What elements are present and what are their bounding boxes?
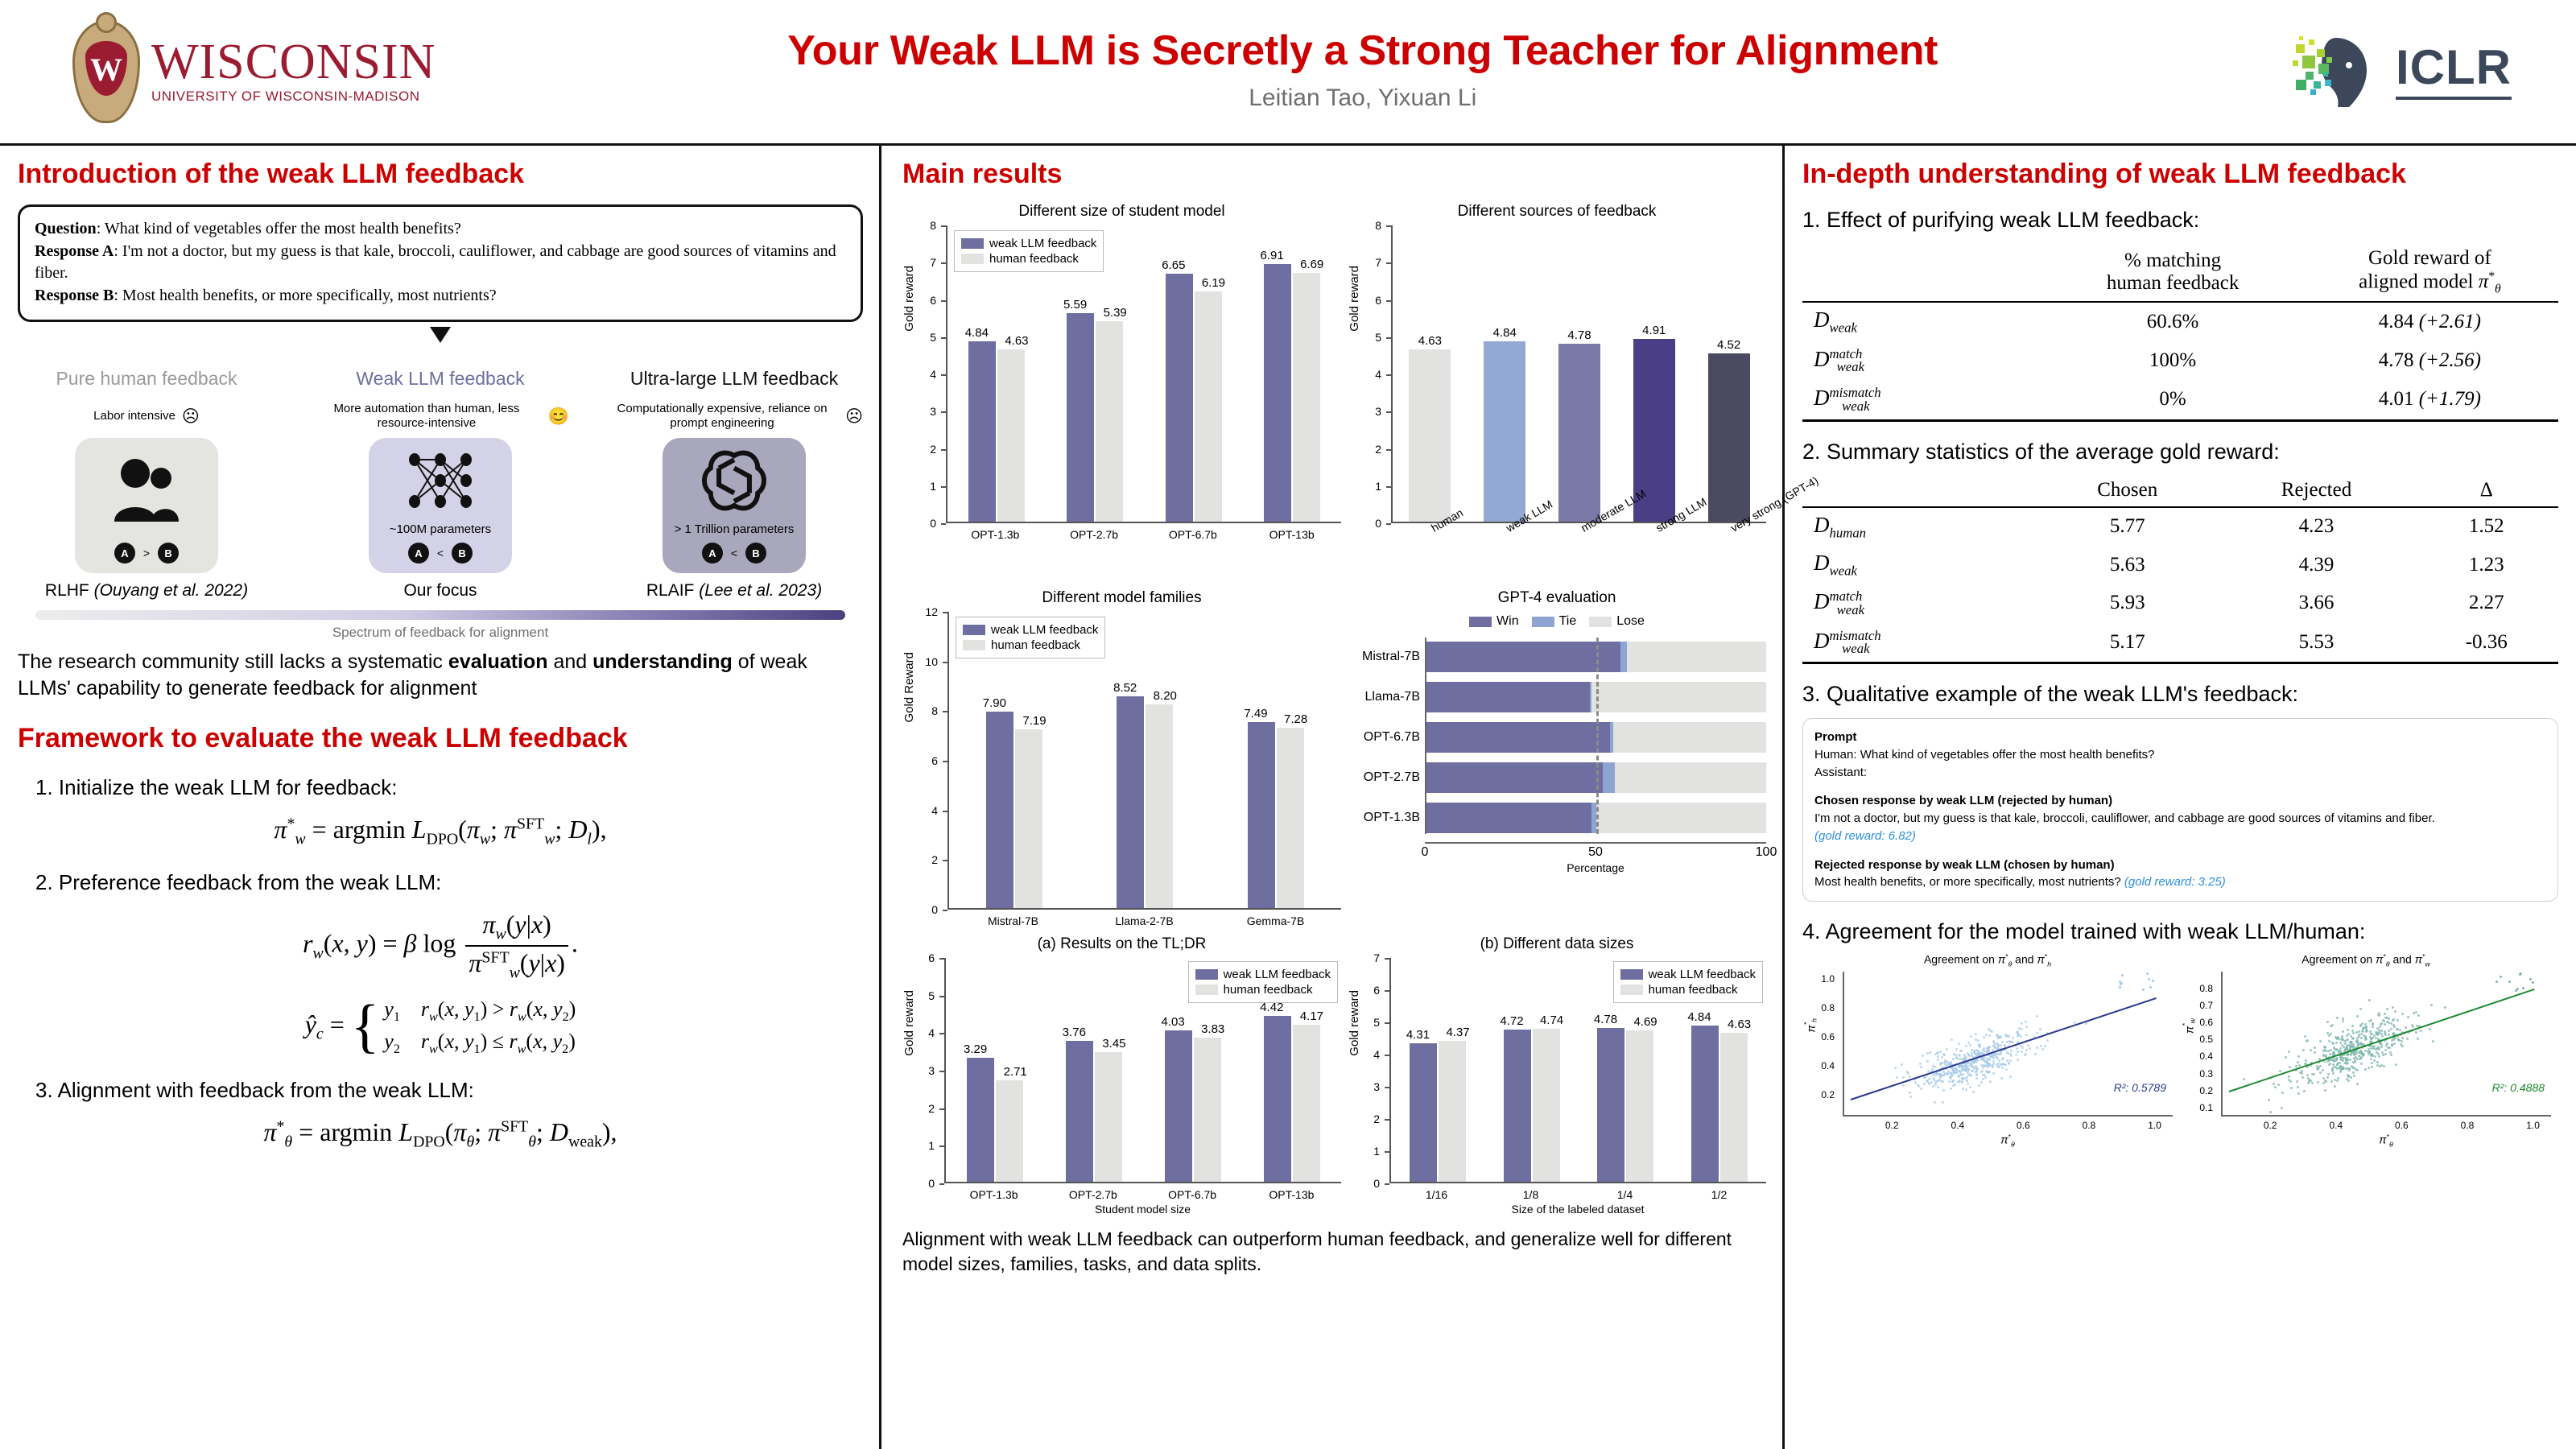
x-tick-label: OPT-6.7b (1144, 528, 1243, 541)
bar-value-label: 7.90 (983, 696, 1006, 710)
legend-label: human feedback (989, 252, 1079, 266)
scatter-point (1969, 1044, 1971, 1046)
scatter-point (2352, 1037, 2355, 1039)
scatter-point (2336, 1017, 2339, 1019)
scatter-point (1894, 1067, 1897, 1069)
scatter-point (1937, 1080, 1939, 1082)
scatter-point (1984, 1076, 1987, 1079)
scatter-point (1975, 1033, 1977, 1035)
chart-title: Different size of student model (902, 203, 1341, 221)
bar-value-label: 7.19 (1022, 714, 1046, 728)
y-axis-label: Gold reward (902, 266, 916, 332)
scatter-point (1985, 1034, 1988, 1036)
legend-item: weak LLM feedback (1195, 968, 1331, 981)
scatter-point (1992, 1072, 1995, 1075)
row-label: Dmatchweak (1814, 589, 1864, 613)
scatter-point (1975, 1061, 1977, 1063)
scatter-point (1941, 1056, 1943, 1059)
down-arrow-icon (18, 327, 863, 347)
scatter-point (2330, 1080, 2333, 1083)
scatter-point (1946, 1048, 1948, 1051)
scatter-point (2368, 1020, 2371, 1022)
bar-value-label: 4.78 (1594, 1013, 1617, 1026)
equation-2: rw(x, y) = β log πw(y|x)πSFTw(y|x). (18, 910, 863, 983)
scatter-point (1952, 1058, 1955, 1060)
scatter-point (1991, 1030, 1993, 1033)
y-tick-label: 0.8 (2199, 983, 2217, 994)
bar-value-label: 4.78 (1567, 328, 1591, 342)
scatter-point (2406, 1038, 2409, 1040)
x-tick-labels: OPT-1.3bOPT-2.7bOPT-6.7bOPT-13b (946, 528, 1341, 541)
scatter-point (2243, 1078, 2245, 1080)
y-axis-label: Gold reward (902, 990, 916, 1056)
scatter-point (2347, 1054, 2349, 1056)
scatter-point (2307, 1082, 2310, 1084)
x-tick-label: OPT-2.7b (1045, 528, 1144, 541)
x-axis-label: π*θ (2221, 1133, 2551, 1148)
bar-segment-win (1426, 762, 1603, 793)
plot-area: 7.907.198.528.207.497.28 weak LLM feedba… (947, 612, 1341, 910)
scatter-point (2339, 1042, 2342, 1044)
bar-value-label: 4.91 (1642, 324, 1666, 337)
framework-step-2: 2. Preference feedback from the weak LLM… (18, 870, 863, 895)
bar: 4.84 (968, 341, 996, 522)
scatter-point (1989, 1080, 1992, 1083)
scatter-point (2288, 1075, 2290, 1078)
bar-group: 4.724.74 (1485, 1029, 1579, 1182)
row-label: Dhuman (1814, 513, 1866, 537)
scatter-point (2016, 1047, 2018, 1050)
bar-value-label: 4.72 (1500, 1014, 1523, 1028)
scatter-point (2274, 1086, 2277, 1088)
legend-label: weak LLM feedback (989, 237, 1096, 250)
scatter-point (2417, 1014, 2420, 1017)
bar-group: 4.784.69 (1579, 1028, 1673, 1182)
panel-pure-human-feedback: Pure human feedback Labor intensive☹ A>B… (18, 368, 275, 601)
scatter-point (1992, 1057, 1995, 1059)
scatter-point (2314, 1046, 2316, 1049)
scatter-point (2365, 1038, 2368, 1040)
scatter-point (1979, 1044, 1981, 1046)
bar: 4.37 (1439, 1041, 1466, 1182)
x-tick-label: 100 (1756, 845, 1777, 860)
scatter-point (1965, 1088, 1967, 1091)
indepth-step-1: 1. Effect of purifying weak LLM feedback… (1802, 208, 2558, 233)
authors: Leitian Tao, Yixuan Li (436, 85, 2289, 112)
chosen-heading: Chosen response by weak LLM (rejected by… (1814, 794, 2112, 807)
scatter-point (1930, 1081, 1933, 1084)
bar-value-label: 4.31 (1406, 1028, 1430, 1042)
scatter-point (2268, 1099, 2270, 1101)
scatter-point (1961, 1069, 1963, 1071)
scatter-point (2340, 1038, 2343, 1041)
scatter-point (2334, 1085, 2336, 1088)
bar-value-label: 3.45 (1102, 1037, 1125, 1051)
bar: 4.84 (1484, 341, 1525, 522)
bar-group: 4.424.17 (1242, 1016, 1341, 1182)
scatter-point (2396, 1028, 2399, 1030)
scatter-point (2388, 1046, 2391, 1049)
scatter-point (1943, 1074, 1946, 1076)
option-a-badge: A (114, 543, 135, 563)
scatter-point (2006, 1059, 2008, 1062)
scatter-point (1950, 1088, 1952, 1090)
scatter-point (1901, 1063, 1903, 1066)
x-tick-labels: Mistral-7BLlama-2-7BGemma-7B (947, 914, 1341, 927)
scatter-point (2508, 980, 2511, 983)
y-tick-label: 0.6 (1821, 1031, 1839, 1042)
bar-group: 5.595.39 (1046, 313, 1144, 522)
plot-area: R²: 0.5789 (1843, 972, 2173, 1117)
question-text: : What kind of vegetables offer the most… (97, 220, 461, 237)
scatter-point (2306, 1074, 2309, 1076)
bar: 4.03 (1165, 1030, 1192, 1182)
cell-delta: 2.27 (2415, 584, 2558, 622)
option-b-badge: B (158, 543, 179, 563)
prompt-assistant: Assistant: (1814, 764, 2546, 782)
legend-swatch (1195, 985, 1218, 995)
smiley-face-icon: 😊 (548, 407, 569, 427)
scatter-point (2295, 1065, 2297, 1067)
x-axis-label: Percentage (1425, 861, 1766, 874)
scatter-point (2149, 986, 2152, 989)
bar-group: 7.907.19 (949, 712, 1080, 908)
bar-group: 4.314.37 (1391, 1041, 1485, 1182)
y-tick-label: Llama-7B (1365, 690, 1426, 704)
reference-line (1596, 638, 1599, 834)
scatter-point (1909, 1092, 1911, 1094)
bar-segment-lose (1615, 762, 1766, 793)
x-tick-label: 1/2 (1672, 1188, 1766, 1201)
x-axis-label: Student model size (944, 1203, 1341, 1216)
y-tick: 3 (1373, 1080, 1385, 1093)
response-b-text: : Most health benefits, or more specific… (114, 287, 496, 304)
scatter-point (1907, 1072, 1909, 1075)
scatter-point (1992, 1066, 1994, 1068)
x-tick-label: OPT-1.3b (944, 1188, 1043, 1201)
plot-area: 3.292.713.763.454.033.834.424.17 weak LL… (944, 958, 1341, 1183)
r-squared-annotation: R²: 0.4888 (2492, 1081, 2545, 1094)
legend-label: weak LLM feedback (1649, 968, 1756, 981)
y-tick: 8 (1375, 219, 1386, 232)
scatter-point (2331, 1070, 2334, 1072)
bar-value-label: 4.03 (1161, 1015, 1184, 1029)
scatter-point (2405, 1026, 2407, 1029)
scatter-point (2350, 1076, 2352, 1079)
scatter-point (2297, 1055, 2300, 1058)
y-tick-label: 0.4 (1821, 1060, 1839, 1071)
scatter-point (2119, 980, 2121, 983)
response-a-label: Response A (35, 242, 114, 260)
scatter-point (1929, 1051, 1931, 1054)
x-tick-label: 0.4 (2329, 1117, 2343, 1131)
bar-value-label: 6.65 (1162, 258, 1185, 272)
scatter-point (2430, 1004, 2433, 1006)
scatter-point (2002, 1057, 2004, 1059)
middle-column: Main results Different size of student m… (881, 146, 1782, 1449)
panel-ultra-large-llm-feedback: Ultra-large LLM feedback Computationally… (605, 368, 863, 601)
scatter-point (2364, 1068, 2367, 1071)
bar-value-label: 8.20 (1154, 689, 1177, 703)
scatter-point (2311, 1082, 2314, 1084)
chart-title: (a) Results on the TL;DR (902, 935, 1341, 953)
table-row: Dmismatchweak 0% 4.01 (+1.79) (1802, 380, 2558, 420)
scatter-point (2396, 1019, 2399, 1022)
plot-area: R²: 0.4888 (2221, 972, 2551, 1117)
y-axis-label: Gold reward (1348, 266, 1361, 332)
scatter-point (2384, 1023, 2386, 1026)
scatter-point (2289, 1066, 2291, 1068)
bar-segment-lose (1596, 803, 1766, 833)
row-label: Dmismatchweak (1814, 386, 1870, 410)
scatter-point (1939, 1062, 1942, 1064)
scatter-point (1967, 1083, 1969, 1085)
cell-chosen: 5.93 (2037, 584, 2218, 622)
scatter-agreement-theta-h: Agreement on π*θ and π*h π*h 0.20.40.60.… (1802, 952, 2173, 1148)
bar-group: 7.497.28 (1211, 722, 1341, 908)
scatter-point (1951, 1038, 1953, 1041)
x-tick-label: 1.0 (2148, 1117, 2161, 1131)
qa-example-box: Question: What kind of vegetables offer … (18, 204, 863, 322)
scatter-point (2025, 1053, 2027, 1055)
equation-4: π*θ = argmin LDPO(πθ; πSFTθ; Dweak), (18, 1117, 863, 1151)
indepth-step-2: 2. Summary statistics of the average gol… (1802, 440, 2558, 464)
scatter-point (1909, 1075, 1911, 1078)
y-tick: 12 (925, 605, 943, 618)
bar: 6.65 (1166, 274, 1193, 522)
y-tick: 2 (1375, 443, 1386, 456)
scatter-point (1988, 1063, 1990, 1066)
chart-student-model-size: Different size of student model Gold rew… (902, 203, 1341, 584)
scatter-point (1962, 1073, 1964, 1075)
scatter-point (1988, 1034, 1991, 1037)
scatter-point (2290, 1087, 2293, 1089)
scatter-point (2379, 1065, 2381, 1067)
scatter-point (2329, 1053, 2331, 1055)
scatter-point (2335, 1042, 2338, 1044)
scatter-point (2008, 1062, 2010, 1064)
section-title-indepth: In-depth understanding of weak LLM feedb… (1802, 159, 2558, 190)
x-tick-label: 1/16 (1389, 1188, 1484, 1201)
scatter-point (2388, 1018, 2390, 1020)
equation-3: ŷc = { y1 rw(x, y1) > rw(x, y2) y2 rw(x,… (18, 997, 863, 1057)
scatter-point (2516, 988, 2519, 990)
neural-network-icon (398, 438, 482, 522)
scatter-point (2297, 1061, 2299, 1063)
scatter-point (2289, 1080, 2292, 1083)
scatter-point (1937, 1059, 1939, 1061)
x-tick-labels: 0.20.40.60.81.0 (2221, 1117, 2551, 1133)
y-tick: 2 (930, 443, 941, 456)
cell-chosen: 5.17 (2037, 623, 2218, 663)
scatter-point (2356, 1015, 2359, 1018)
scatter-point (1965, 1045, 1967, 1047)
scatter-point (2532, 981, 2534, 984)
scatter-point (2392, 1006, 2394, 1009)
panel-footer: RLAIF (Lee et al. 2023) (605, 581, 863, 601)
x-tick-labels: OPT-1.3bOPT-2.7bOPT-6.7bOPT-13b (944, 1188, 1341, 1201)
bar-value-label: 6.91 (1260, 249, 1283, 262)
scatter-point (2380, 1022, 2383, 1025)
scatter-point (1982, 1067, 1984, 1069)
bar: 4.63 (1409, 349, 1451, 522)
scatter-point (1939, 1051, 1942, 1053)
scatter-point (2354, 1059, 2356, 1062)
bar-segment-win (1426, 682, 1590, 712)
scatter-point (2358, 1030, 2360, 1033)
scatter-point (2017, 1059, 2019, 1061)
col-header-rejected: Rejected (2218, 474, 2414, 507)
y-tick: 2 (931, 853, 943, 866)
section-title-framework: Framework to evaluate the weak LLM feedb… (18, 723, 863, 754)
scatter-point (2379, 1042, 2381, 1045)
scatter-point (2281, 1107, 2283, 1109)
title-block: Your Weak LLM is Secretly a Strong Teach… (436, 27, 2289, 112)
scatter-point (2375, 1037, 2377, 1039)
scatter-point (2379, 1026, 2381, 1028)
y-tick: 5 (1375, 331, 1386, 344)
bar-group: 6.916.69 (1243, 264, 1341, 522)
scatter-point (2335, 1059, 2338, 1061)
iclr-wordmark: ICLR (2396, 43, 2512, 92)
scatter-point (1966, 1080, 1968, 1082)
scatter-point (2368, 999, 2371, 1001)
y-axis-label: Gold Reward (902, 652, 916, 723)
scatter-point (1982, 1074, 1984, 1076)
table-header-row: % matchinghuman feedback Gold reward of … (1802, 242, 2558, 302)
scatter-point (2085, 1022, 2087, 1025)
scatter-point (1970, 1035, 1972, 1038)
scatter-point (2326, 1076, 2329, 1079)
plot-area: 4.634.844.784.914.52 (1391, 225, 1766, 523)
poster-header: W WISCONSIN UNIVERSITY OF WISCONSIN-MADI… (0, 0, 2576, 143)
bar-segment-tie (1620, 642, 1627, 672)
scatter-point (2025, 1026, 2028, 1028)
scatter-point (2017, 1051, 2019, 1053)
x-tick-label: 0.6 (2395, 1117, 2409, 1131)
scatter-point (2394, 1010, 2396, 1013)
scatter-point (2347, 1062, 2349, 1064)
bar-group: 4.84 (1468, 341, 1542, 522)
x-tick-label: OPT-6.7b (1143, 1188, 1242, 1201)
scatter-point (2371, 1066, 2373, 1068)
y-tick: 8 (931, 704, 943, 717)
x-tick-label: 1.0 (2526, 1117, 2540, 1131)
scatter-point (2319, 1065, 2322, 1067)
uw-crest-icon: W (72, 20, 140, 123)
y-tick-label: 0.4 (2199, 1051, 2217, 1062)
scatter-point (1939, 1076, 1942, 1079)
legend-label: human feedback (991, 638, 1080, 652)
scatter-point (2015, 1054, 2017, 1056)
spectrum-label: Spectrum of feedback for alignment (18, 625, 863, 641)
bar-value-label: 7.28 (1284, 712, 1307, 726)
y-tick: 4 (928, 1026, 939, 1039)
bar: 6.91 (1264, 264, 1291, 522)
scatter-point (2353, 1067, 2355, 1069)
bar: 3.76 (1066, 1041, 1093, 1182)
framework-step-1: 1. Initialize the weak LLM for feedback: (18, 775, 863, 800)
chart-legend: weak LLM feedbackhuman feedback (1613, 961, 1763, 1003)
cell-rejected: 4.39 (2218, 546, 2414, 584)
scatter-point (2021, 1051, 2023, 1053)
cell-rejected: 3.66 (2218, 584, 2414, 622)
y-tick-label: OPT-1.3B (1364, 811, 1426, 825)
bar: 4.69 (1626, 1030, 1653, 1182)
bar-value-label: 4.17 (1300, 1009, 1323, 1023)
scatter-point (1942, 1089, 1945, 1092)
panel-footer: Our focus (312, 581, 569, 601)
bar-group: 4.844.63 (947, 341, 1046, 522)
scatter-point (1958, 1080, 1960, 1083)
legend-label: weak LLM feedback (991, 623, 1098, 637)
panel-card: A>B (75, 438, 218, 573)
chart-title: Agreement on π*θ and π*h (1802, 952, 2173, 968)
scatter-point (2384, 1013, 2386, 1015)
scatter-point (2302, 1049, 2305, 1051)
legend-label: human feedback (1649, 983, 1738, 997)
scatter-point (2325, 1050, 2327, 1052)
bar-value-label: 4.63 (1728, 1018, 1751, 1031)
scatter-point (2376, 1061, 2379, 1063)
bar: 6.19 (1195, 291, 1222, 522)
scatter-point (1963, 1054, 1966, 1056)
scatter-point (1937, 1055, 1939, 1058)
x-tick-label: OPT-2.7b (1043, 1188, 1142, 1201)
y-tick: 2 (928, 1102, 939, 1115)
bar: 5.59 (1067, 313, 1094, 522)
scatter-point (1926, 1060, 1929, 1063)
option-a-badge: A (408, 543, 429, 563)
col-header-delta: Δ (2415, 474, 2558, 507)
scatter-point (2386, 1008, 2388, 1010)
bar-value-label: 6.69 (1300, 258, 1323, 271)
scatter-point (2000, 1063, 2003, 1066)
scatter-point (2390, 1054, 2392, 1056)
scatter-point (1966, 1068, 1968, 1071)
chart-legend: weak LLM feedbackhuman feedback (954, 230, 1104, 272)
scatter-point (1958, 1058, 1960, 1060)
scatter-point (1969, 1073, 1971, 1075)
option-a-badge: A (702, 543, 723, 563)
scatter-point (2304, 1035, 2306, 1038)
bar-value-label: 2.71 (1004, 1065, 1027, 1079)
scatter-point (2331, 1024, 2334, 1026)
rejected-heading: Rejected response by weak LLM (chosen by… (1814, 858, 2115, 872)
legend-swatch (1589, 617, 1612, 627)
bar: 8.20 (1146, 704, 1173, 908)
scatter-point (2306, 1039, 2309, 1042)
panel-parameter-count: ~100M parameters (390, 522, 491, 536)
scatter-point (2391, 1044, 2393, 1046)
y-tick: 5 (928, 989, 939, 1002)
y-tick: 8 (930, 219, 941, 232)
legend-label: weak LLM feedback (1224, 968, 1331, 981)
scatter-point (2345, 1067, 2347, 1070)
scatter-point (2322, 1069, 2324, 1071)
scatter-point (1974, 1052, 1976, 1055)
x-tick-label: 0.6 (2017, 1117, 2030, 1131)
scatter-point (2269, 1111, 2272, 1113)
scatter-point (1934, 1074, 1937, 1076)
bar: 4.84 (1691, 1026, 1719, 1182)
scatter-point (2025, 1034, 2028, 1036)
scatter-point (2522, 987, 2524, 989)
x-tick-label: 50 (1588, 845, 1603, 860)
scatter-point (1959, 1066, 1961, 1068)
compare-symbol: < (731, 547, 737, 559)
y-axis-label: Gold reward (1348, 990, 1361, 1056)
